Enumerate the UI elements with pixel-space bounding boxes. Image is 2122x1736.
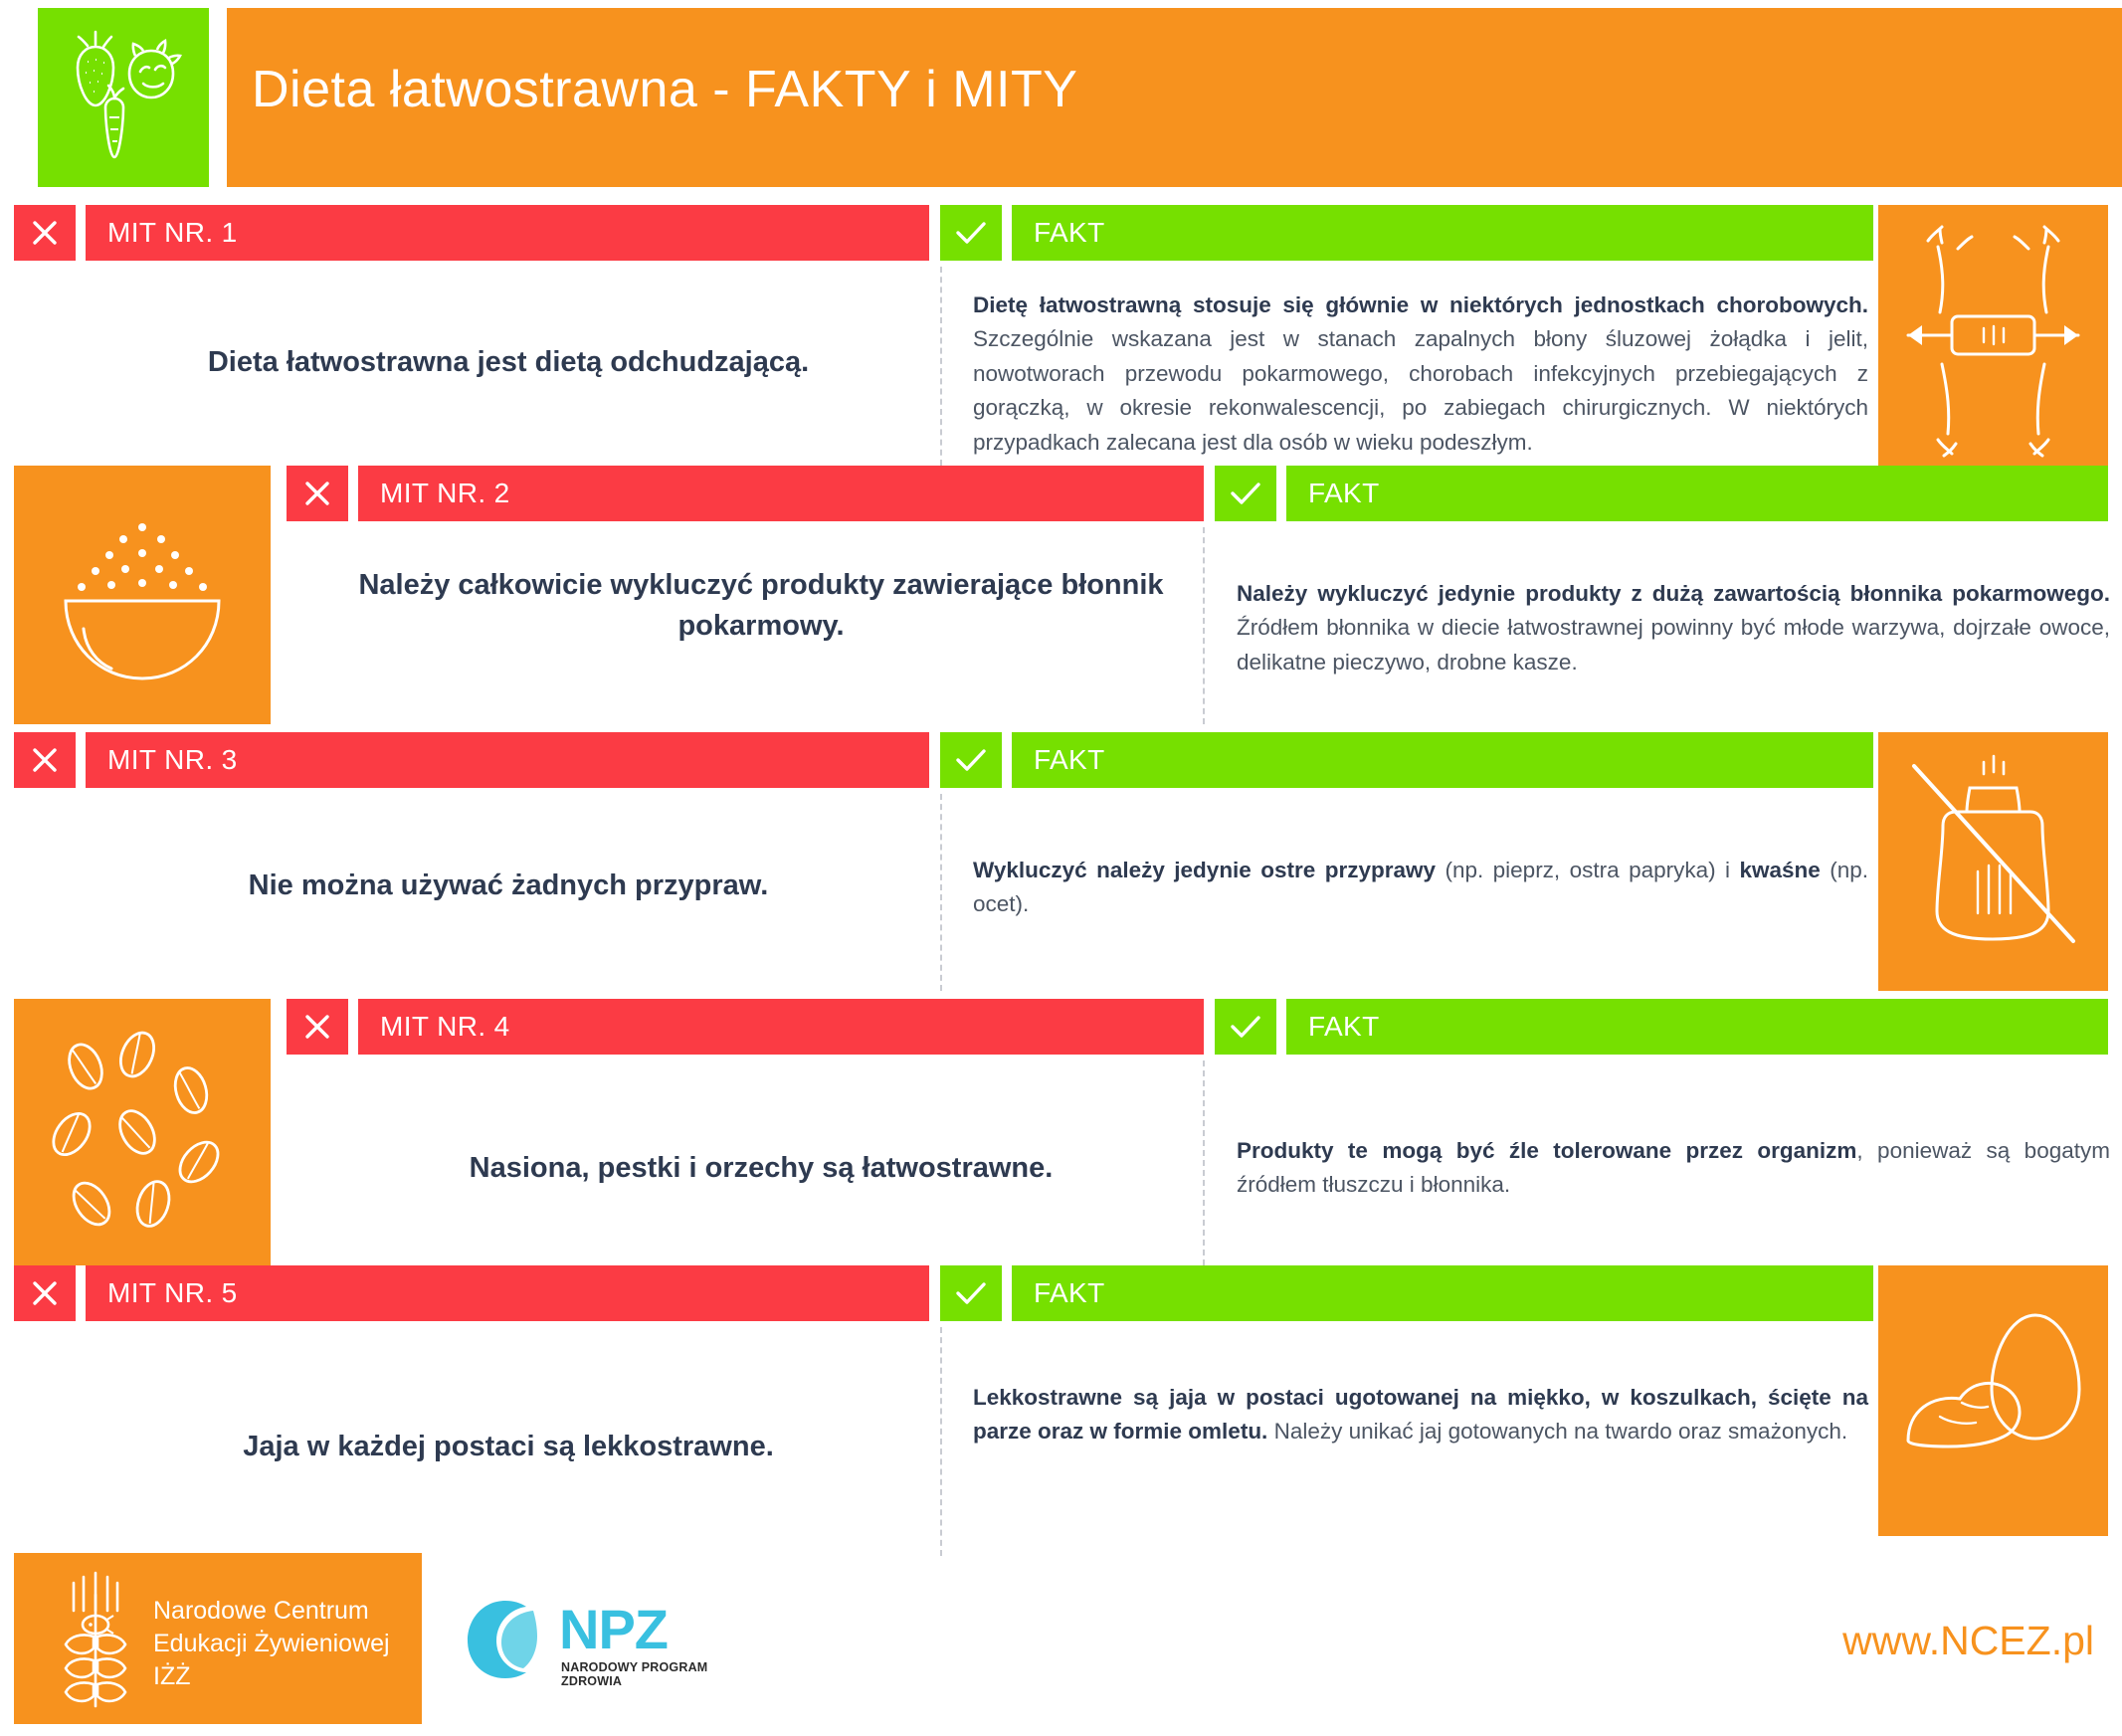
fact-paragraph-bold-2: kwaśne bbox=[1739, 858, 1820, 882]
myth-x-badge bbox=[287, 466, 348, 521]
row-divider bbox=[940, 267, 942, 466]
infographic-page: Dieta łatwostrawna - FAKTY i MITY MIT NR… bbox=[0, 0, 2122, 1736]
fact-paragraph-rest: Źródłem błonnika w diecie łatwostrawnej … bbox=[1237, 615, 2110, 674]
myth-label: MIT NR. 3 bbox=[86, 744, 238, 776]
fact-label-bar: FAKT bbox=[1012, 732, 1873, 788]
x-cross-icon bbox=[30, 1278, 60, 1308]
fact-paragraph-bold: Wykluczyć należy jedynie ostre przyprawy bbox=[973, 858, 1436, 882]
fact-check-badge bbox=[1215, 466, 1276, 521]
page-title: Dieta łatwostrawna - FAKTY i MITY bbox=[252, 60, 1077, 119]
fact-label: FAKT bbox=[1286, 1011, 1380, 1043]
row-divider bbox=[940, 794, 942, 991]
fact-paragraph: Produkty te mogą być źle tolerowane prze… bbox=[1237, 1134, 2110, 1203]
fact-check-badge bbox=[940, 1265, 1002, 1321]
row-divider bbox=[940, 1327, 942, 1556]
eggs-icon bbox=[1878, 1265, 2108, 1536]
fact-paragraph: Wykluczyć należy jedynie ostre przyprawy… bbox=[973, 854, 1868, 922]
myth-statement: Dieta łatwostrawna jest dietą odchudzają… bbox=[86, 342, 931, 383]
myth-label-bar: MIT NR. 1 bbox=[86, 205, 929, 261]
ncez-logo-tile: Narodowe Centrum Edukacji Żywieniowej IŻ… bbox=[14, 1553, 422, 1724]
myth-statement: Nasiona, pestki i orzechy są łatwostrawn… bbox=[338, 1148, 1184, 1189]
fact-paragraph-rest: Należy unikać jaj gotowanych na twardo o… bbox=[1267, 1419, 1847, 1444]
website-url[interactable]: www.NCEZ.pl bbox=[1842, 1618, 2094, 1664]
npz-leaf-circle-icon bbox=[460, 1595, 551, 1682]
illustration-tile-grain-bowl bbox=[14, 466, 271, 724]
fact-label-bar: FAKT bbox=[1286, 466, 2108, 521]
fact-label-bar: FAKT bbox=[1286, 999, 2108, 1055]
myth-label-bar: MIT NR. 5 bbox=[86, 1265, 929, 1321]
footer: Narodowe Centrum Edukacji Żywieniowej IŻ… bbox=[0, 1537, 2122, 1736]
strawberry-carrot-lettuce-icon bbox=[58, 26, 189, 170]
fact-paragraph-bold: Należy wykluczyć jedynie produkty z dużą… bbox=[1237, 581, 2110, 606]
seeds-nuts-icon bbox=[14, 999, 271, 1265]
row-myth-3: MIT NR. 3 FAKT Nie można używać żadnych … bbox=[0, 732, 2122, 991]
header: Dieta łatwostrawna - FAKTY i MITY bbox=[0, 0, 2122, 195]
illustration-tile-measuring-tape bbox=[1878, 205, 2108, 466]
check-mark-icon bbox=[954, 1279, 988, 1307]
row-divider bbox=[1203, 1061, 1205, 1265]
fact-paragraph-rest: (np. pieprz, ostra papryka) i bbox=[1436, 858, 1739, 882]
fact-label: FAKT bbox=[1012, 744, 1105, 776]
myth-x-badge bbox=[14, 205, 76, 261]
x-cross-icon bbox=[30, 745, 60, 775]
myth-label: MIT NR. 4 bbox=[358, 1011, 510, 1043]
myth-label: MIT NR. 5 bbox=[86, 1277, 238, 1309]
myth-x-badge bbox=[287, 999, 348, 1055]
measuring-tape-waist-icon bbox=[1878, 205, 2108, 466]
myth-x-badge bbox=[14, 732, 76, 788]
fact-label-bar: FAKT bbox=[1012, 1265, 1873, 1321]
illustration-tile-salt-shaker bbox=[1878, 732, 2108, 991]
myth-label: MIT NR. 1 bbox=[86, 217, 238, 249]
myth-label-bar: MIT NR. 4 bbox=[358, 999, 1204, 1055]
row-myth-2: MIT NR. 2 FAKT Należy całkowicie wyklucz… bbox=[0, 466, 2122, 724]
fact-check-badge bbox=[940, 732, 1002, 788]
fact-paragraph: Lekkostrawne są jaja w postaci ugotowane… bbox=[973, 1381, 1868, 1449]
ncez-name: Narodowe Centrum Edukacji Żywieniowej IŻ… bbox=[153, 1595, 390, 1693]
crossed-out-salt-shaker-icon bbox=[1878, 732, 2108, 991]
x-cross-icon bbox=[302, 479, 332, 508]
check-mark-icon bbox=[1229, 480, 1262, 507]
check-mark-icon bbox=[1229, 1013, 1262, 1041]
ncez-line-2: Edukacji Żywieniowej bbox=[153, 1628, 390, 1660]
wheat-ear-icon bbox=[36, 1565, 155, 1714]
illustration-tile-eggs bbox=[1878, 1265, 2108, 1536]
row-myth-5: MIT NR. 5 FAKT Jaja w każdej postaci są … bbox=[0, 1265, 2122, 1536]
ncez-line-1: Narodowe Centrum bbox=[153, 1595, 390, 1628]
myth-label-bar: MIT NR. 2 bbox=[358, 466, 1204, 521]
fact-paragraph: Należy wykluczyć jedynie produkty z dużą… bbox=[1237, 577, 2110, 679]
fact-check-badge bbox=[940, 205, 1002, 261]
header-logo-tile bbox=[38, 8, 209, 187]
check-mark-icon bbox=[954, 746, 988, 774]
fact-paragraph: Dietę łatwostrawną stosuje się głównie w… bbox=[973, 289, 1868, 460]
bowl-of-grain-icon bbox=[14, 466, 271, 724]
x-cross-icon bbox=[302, 1012, 332, 1042]
myth-statement: Jaja w każdej postaci są lekkostrawne. bbox=[86, 1427, 931, 1467]
row-myth-1: MIT NR. 1 FAKT Dieta łatwostrawna jest d… bbox=[0, 205, 2122, 466]
row-myth-4: MIT NR. 4 FAKT Nasiona, pestki i orzechy… bbox=[0, 999, 2122, 1265]
fact-label: FAKT bbox=[1012, 217, 1105, 249]
npz-title: NPZ bbox=[559, 1597, 668, 1661]
fact-label: FAKT bbox=[1286, 478, 1380, 509]
check-mark-icon bbox=[954, 219, 988, 247]
fact-paragraph-rest: Szczególnie wskazana jest w stanach zapa… bbox=[973, 326, 1868, 454]
myth-statement: Nie można używać żadnych przypraw. bbox=[86, 866, 931, 906]
ncez-line-3: IŻŻ bbox=[153, 1660, 390, 1693]
myth-label-bar: MIT NR. 3 bbox=[86, 732, 929, 788]
myth-x-badge bbox=[14, 1265, 76, 1321]
myth-label: MIT NR. 2 bbox=[358, 478, 510, 509]
myth-statement: Należy całkowicie wykluczyć produkty zaw… bbox=[338, 565, 1184, 647]
x-cross-icon bbox=[30, 218, 60, 248]
fact-paragraph-bold: Produkty te mogą być źle tolerowane prze… bbox=[1237, 1138, 1856, 1163]
row-divider bbox=[1203, 527, 1205, 724]
illustration-tile-seeds bbox=[14, 999, 271, 1265]
fact-paragraph-bold: Dietę łatwostrawną stosuje się głównie w… bbox=[973, 292, 1868, 317]
fact-label-bar: FAKT bbox=[1012, 205, 1873, 261]
fact-check-badge bbox=[1215, 999, 1276, 1055]
fact-label: FAKT bbox=[1012, 1277, 1105, 1309]
npz-logo: NPZ NARODOWY PROGRAM ZDROWIA bbox=[460, 1595, 728, 1686]
npz-subtitle: NARODOWY PROGRAM ZDROWIA bbox=[561, 1660, 728, 1688]
